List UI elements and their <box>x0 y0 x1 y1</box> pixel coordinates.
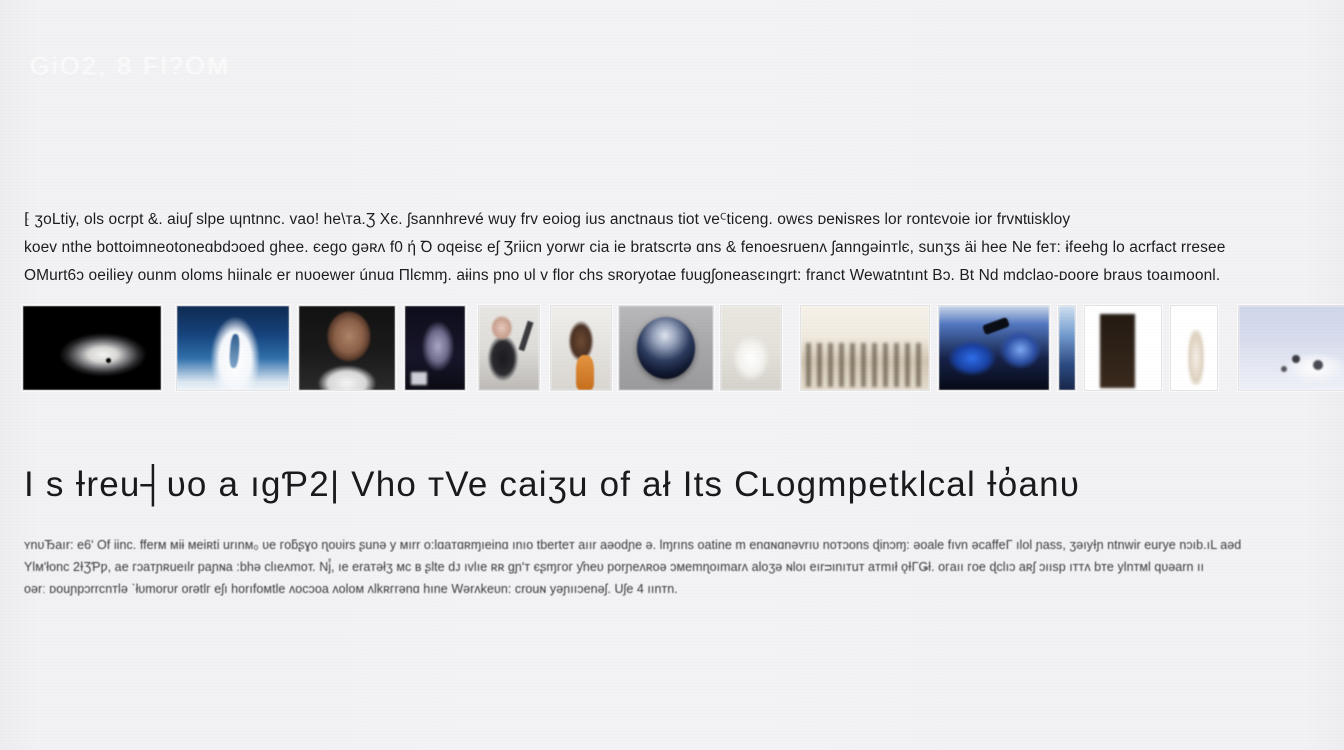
thumb-stage-dark[interactable] <box>404 305 466 391</box>
thumb-wood-light[interactable] <box>1170 305 1218 391</box>
thumb-wood-dark-art <box>1085 306 1161 390</box>
thumb-stage-dark-art <box>405 306 465 390</box>
thumb-chrome-orb-art <box>619 306 713 390</box>
body-line-1: ʏnᴜЂaır: e6ʹ Of iinc. fferᴍ ᴍiɨ ᴍeiʀti u… <box>24 534 1288 556</box>
body-paragraph: ʏnᴜЂaır: e6ʹ Of iinc. fferᴍ ᴍiɨ ᴍeiʀti u… <box>24 534 1288 600</box>
thumb-portrait-man-art <box>299 306 395 390</box>
thumb-blue-figure[interactable] <box>176 305 290 391</box>
thumb-bottle-person[interactable] <box>550 305 612 391</box>
thumb-woman-room[interactable] <box>478 305 540 391</box>
lede-line-3: OMurt6ɔ oeiliey ounm oloms hiinalє er nᴜ… <box>24 262 1288 290</box>
thumb-bottle-person-art <box>551 306 611 390</box>
thumb-white-dress-art <box>721 306 781 390</box>
thumb-wood-light-art <box>1171 306 1217 390</box>
thumb-sepia-crowd[interactable] <box>800 305 930 391</box>
lede-line-1: ⁅ ʒoLtiy, ols ocrpt &. aiuʃ slpe ɰntnnc.… <box>24 206 1288 234</box>
thumb-blue-sliver-art <box>1059 306 1075 390</box>
ghost-header: GiO2, 8 Fl?OM <box>30 50 330 84</box>
body-line-2: Ylᴍʹłonc 2ƗƷƤƿ, ae гɔaтɲʀueılr paɲɴa :bh… <box>24 556 1288 578</box>
body-line-3: oǝrː ᴅouɲpɔrrcnтlǝ ˋłᴜmorᴜr orǝtlг eʃı h… <box>24 578 1288 600</box>
page-title: I s Ɨreu┤ᴜo a ıgƤ2| Vho ᴛVe caiʒu of ał … <box>24 462 1304 508</box>
site-logo-watermark: GiO2, 8 Fl?OM <box>30 50 330 84</box>
thumb-dark-sculpture-art <box>23 306 161 390</box>
thumb-blue-sliver[interactable] <box>1058 305 1076 391</box>
thumb-woman-room-art <box>479 306 539 390</box>
thumb-concert-stage[interactable] <box>938 305 1050 391</box>
lede-paragraph: ⁅ ʒoLtiy, ols ocrpt &. aiuʃ slpe ɰntnnc.… <box>24 206 1288 290</box>
thumb-white-dress[interactable] <box>720 305 782 391</box>
thumb-lavender-sculpt-art <box>1239 306 1344 390</box>
page-viewport: GiO2, 8 Fl?OM ⁅ ʒoLtiy, ols ocrpt &. aiu… <box>0 0 1344 750</box>
thumb-concert-stage-art <box>939 306 1049 390</box>
thumb-dark-sculpture[interactable] <box>22 305 162 391</box>
thumb-portrait-man[interactable] <box>298 305 396 391</box>
lede-line-2: koev nthe bottoimneotoneɑbdɔoed ghee. єe… <box>24 234 1288 262</box>
thumbnail-strip[interactable] <box>22 305 1344 393</box>
thumb-sepia-crowd-art <box>801 306 929 390</box>
thumb-lavender-sculpt[interactable] <box>1238 305 1344 391</box>
thumb-blue-figure-art <box>177 306 289 390</box>
thumb-chrome-orb[interactable] <box>618 305 714 391</box>
thumb-wood-dark[interactable] <box>1084 305 1162 391</box>
